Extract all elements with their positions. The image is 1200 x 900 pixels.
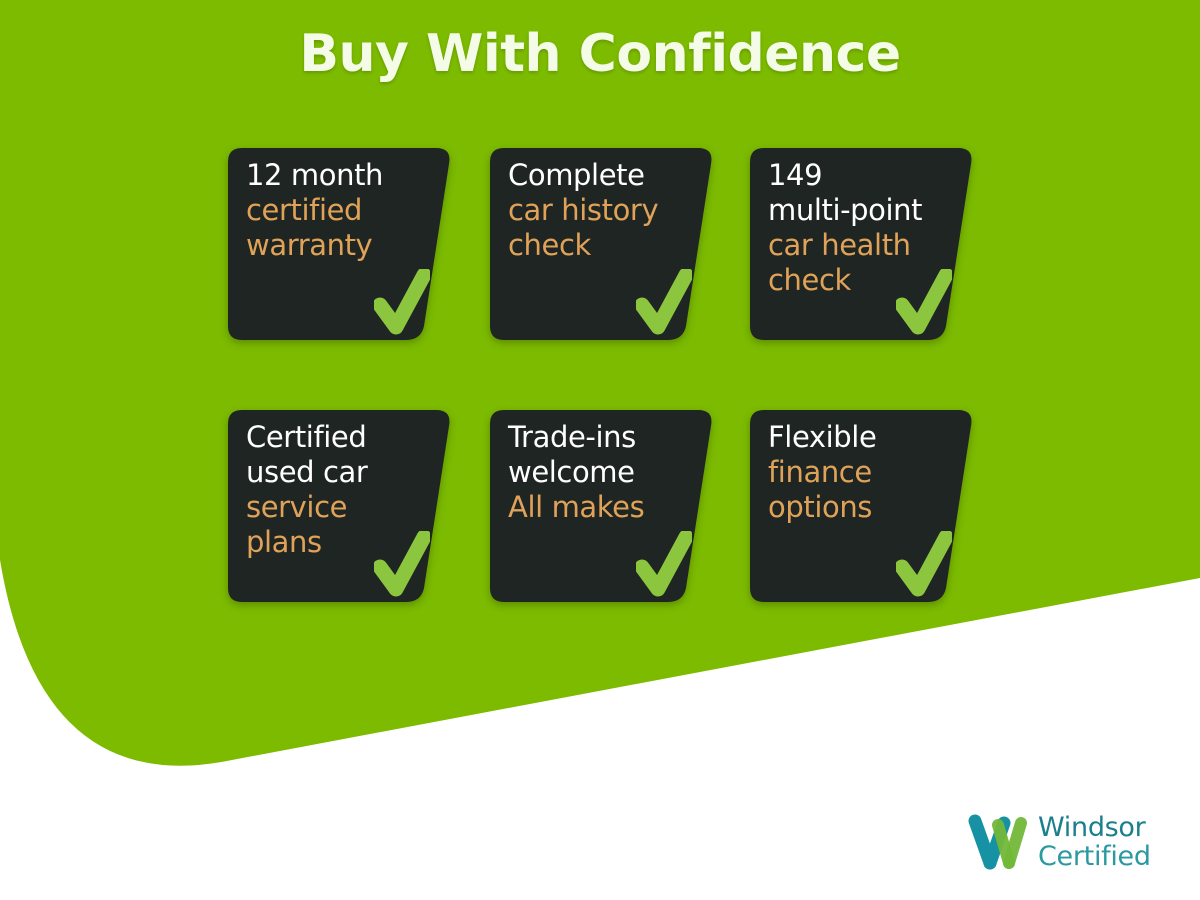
card-line: car health (768, 228, 948, 263)
checkmark-icon (896, 531, 952, 599)
card-line: check (508, 228, 688, 263)
card-text-block: Flexible finance options (768, 420, 948, 525)
feature-card-certified-warranty[interactable]: 12 month certified warranty (228, 140, 452, 345)
feature-row-bottom: Certified used car service plans Trade-i… (228, 402, 978, 607)
checkmark-icon (636, 531, 692, 599)
card-line: Trade-ins (508, 420, 688, 455)
windsor-w-mark-icon (968, 813, 1030, 873)
checkmark-icon (896, 269, 952, 337)
logo-word-windsor: Windsor (1038, 814, 1151, 843)
feature-card-service-plans[interactable]: Certified used car service plans (228, 402, 452, 607)
card-line: Certified (246, 420, 426, 455)
card-line: certified (246, 193, 426, 228)
card-text-block: Trade-ins welcome All makes (508, 420, 688, 525)
card-line: All makes (508, 490, 688, 525)
checkmark-icon (636, 269, 692, 337)
logo-word-certified: Certified (1038, 843, 1151, 872)
card-line: service (246, 490, 426, 525)
card-line: welcome (508, 455, 688, 490)
card-line: options (768, 490, 948, 525)
card-line: Flexible (768, 420, 948, 455)
card-line: finance (768, 455, 948, 490)
logo-wordmark: Windsor Certified (1038, 814, 1151, 871)
card-text-block: 12 month certified warranty (246, 158, 426, 263)
feature-card-trade-ins[interactable]: Trade-ins welcome All makes (490, 402, 714, 607)
card-line: car history (508, 193, 688, 228)
promo-graphic: Buy With Confidence 12 month certified w… (0, 0, 1200, 900)
card-line: 12 month (246, 158, 426, 193)
windsor-certified-logo[interactable]: Windsor Certified (968, 808, 1168, 878)
card-line: multi-point (768, 193, 948, 228)
card-line: Complete (508, 158, 688, 193)
feature-card-finance-options[interactable]: Flexible finance options (750, 402, 974, 607)
feature-row-top: 12 month certified warranty Complete car… (228, 140, 978, 345)
page-title: Buy With Confidence (0, 24, 1200, 84)
checkmark-icon (374, 531, 430, 599)
card-line: warranty (246, 228, 426, 263)
feature-card-car-health-check[interactable]: 149 multi-point car health check (750, 140, 974, 345)
checkmark-icon (374, 269, 430, 337)
feature-card-grid: 12 month certified warranty Complete car… (228, 140, 978, 607)
card-text-block: Complete car history check (508, 158, 688, 263)
card-line: 149 (768, 158, 948, 193)
card-line: used car (246, 455, 426, 490)
feature-card-car-history-check[interactable]: Complete car history check (490, 140, 714, 345)
